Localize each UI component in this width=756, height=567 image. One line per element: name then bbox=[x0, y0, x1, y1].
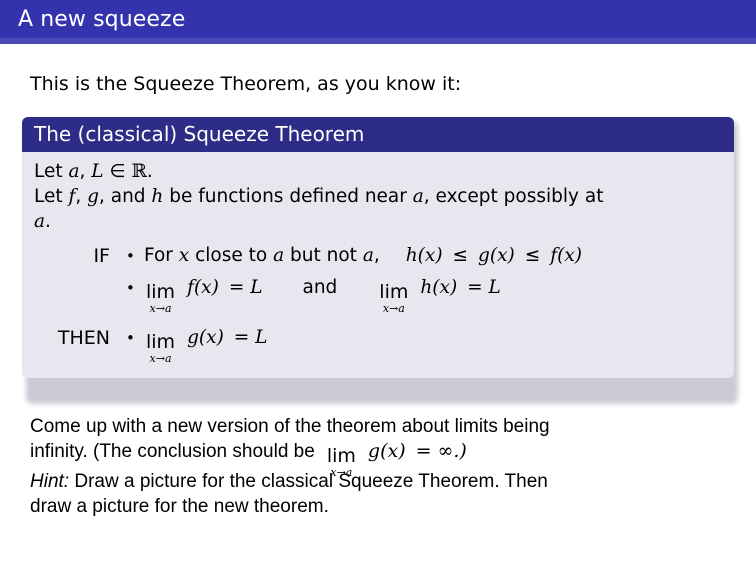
formula-paren-close-2: ) bbox=[508, 245, 515, 266]
formula-x-1: x bbox=[425, 245, 435, 266]
task-fn-g: g bbox=[368, 440, 380, 462]
formula-paren-close-3: ) bbox=[575, 245, 582, 266]
if-bullet-2: • limx→af(x)= Landlimx→ah(x)= L bbox=[126, 275, 722, 310]
setup-line-1: Let a, L ∈ ℝ. bbox=[34, 159, 722, 184]
setup-line1-end: . bbox=[147, 161, 153, 182]
limit-label-2: lim bbox=[379, 283, 408, 302]
limit-eq-3: = L bbox=[234, 327, 268, 348]
limit-operator-3: limx→a bbox=[146, 333, 175, 365]
formula-le-2: ≤ bbox=[525, 245, 541, 266]
bullet-icon: • bbox=[126, 325, 144, 351]
limit-eq-1: = L bbox=[229, 277, 263, 298]
task-line-1: Come up with a new version of the theore… bbox=[30, 414, 736, 439]
limit-arg-1: (x) bbox=[194, 277, 219, 298]
setup-line2-c1: , bbox=[75, 186, 87, 207]
limit-fn-f: f bbox=[187, 277, 194, 298]
if1-post: , bbox=[374, 245, 380, 266]
if-label: IF bbox=[34, 243, 126, 269]
var-a-3: a bbox=[34, 211, 45, 232]
hint-label: Hint: bbox=[30, 471, 69, 492]
setup-line-2: Let f, g, and h be functions defined nea… bbox=[34, 184, 722, 209]
if-row: IF • For x close to a but not a,h(x)≤g(x… bbox=[34, 243, 722, 316]
formula-g: g bbox=[478, 245, 490, 266]
block-content: Let a, L ∈ ℝ. Let f, g, and h be functio… bbox=[22, 152, 734, 378]
if-bullet-1-text: For x close to a but not a,h(x)≤g(x)≤f(x… bbox=[144, 243, 722, 269]
then-items: • limx→ag(x)= L bbox=[126, 325, 722, 366]
hint-line-2: draw a picture for the new theorem. bbox=[30, 494, 736, 519]
hint-line1-text: Draw a picture for the classical Squeeze… bbox=[69, 471, 548, 492]
formula-x-3: x bbox=[564, 245, 574, 266]
hint-line-1: Hint: Draw a picture for the classical S… bbox=[30, 469, 736, 494]
bullet-icon: • bbox=[126, 243, 144, 269]
symbol-real-numbers: ℝ bbox=[131, 161, 146, 182]
then-bullet-1: • limx→ag(x)= L bbox=[126, 325, 722, 360]
setup-line3-end: . bbox=[45, 211, 51, 232]
limit-subscript-3: x→a bbox=[150, 353, 172, 365]
if1-mid: close to bbox=[189, 245, 273, 266]
if1-mid2: but not bbox=[284, 245, 363, 266]
task-paragraph: Come up with a new version of the theore… bbox=[30, 414, 736, 474]
limit-arg-2: (x) bbox=[432, 277, 457, 298]
block-title: The (classical) Squeeze Theorem bbox=[22, 117, 734, 152]
limit-subscript-1: x→a bbox=[150, 303, 172, 315]
setup-line-3: a. bbox=[34, 209, 722, 234]
limit-subscript-2: x→a bbox=[383, 303, 405, 315]
limit-fn-g: g bbox=[187, 327, 199, 348]
conjunction-and: and bbox=[302, 277, 337, 298]
var-h: h bbox=[151, 186, 163, 207]
var-g: g bbox=[87, 186, 99, 207]
setup-line2-pre: Let bbox=[34, 186, 69, 207]
setup-line2-post: be functions defined near bbox=[163, 186, 412, 207]
var-x: x bbox=[179, 245, 189, 266]
then-bullet-1-text: limx→ag(x)= L bbox=[144, 325, 722, 360]
var-a-4: a bbox=[273, 245, 284, 266]
var-a: a bbox=[69, 161, 80, 182]
limit-label-3: lim bbox=[146, 333, 175, 352]
var-a-5: a bbox=[363, 245, 374, 266]
hint-paragraph: Hint: Draw a picture for the classical S… bbox=[30, 469, 736, 519]
setup-line1-in: ∈ bbox=[104, 161, 132, 182]
if1-pre: For bbox=[144, 245, 179, 266]
limit-arg-3: (x) bbox=[199, 327, 224, 348]
if-items: • For x close to a but not a,h(x)≤g(x)≤f… bbox=[126, 243, 722, 316]
limit-operator-2: limx→a bbox=[379, 283, 408, 315]
var-L: L bbox=[91, 161, 103, 182]
setup-line2-tail: , except possibly at bbox=[424, 186, 604, 207]
formula-h: h bbox=[406, 245, 418, 266]
then-row: THEN • limx→ag(x)= L bbox=[34, 325, 722, 366]
limit-fn-h: h bbox=[420, 277, 432, 298]
intro-text: This is the Squeeze Theorem, as you know… bbox=[30, 72, 461, 96]
formula-le-1: ≤ bbox=[453, 245, 469, 266]
page-title: A new squeeze bbox=[18, 6, 185, 34]
formula-paren-close-1: ) bbox=[435, 245, 442, 266]
var-a-2: a bbox=[413, 186, 424, 207]
setup-line1-comma: , bbox=[80, 161, 92, 182]
setup-line1-pre: Let bbox=[34, 161, 69, 182]
limit-label-4: lim bbox=[327, 447, 356, 466]
task-line2-pre: infinity. (The conclusion should be bbox=[30, 441, 315, 462]
bullet-icon: • bbox=[126, 275, 144, 301]
formula-paren-open-1: ( bbox=[418, 245, 425, 266]
limit-eq-2: = L bbox=[467, 277, 501, 298]
limit-operator-1: limx→a bbox=[146, 283, 175, 315]
then-label: THEN bbox=[34, 325, 126, 351]
if-bullet-2-text: limx→af(x)= Landlimx→ah(x)= L bbox=[144, 275, 722, 310]
task-eq-infinity: = ∞.) bbox=[416, 440, 467, 462]
theorem-block: The (classical) Squeeze Theorem Let a, L… bbox=[22, 117, 734, 378]
setup-line2-c2: , and bbox=[99, 186, 151, 207]
formula-x-2: x bbox=[497, 245, 507, 266]
limit-label-1: lim bbox=[146, 283, 175, 302]
if-bullet-1: • For x close to a but not a,h(x)≤g(x)≤f… bbox=[126, 243, 722, 269]
slide-body: This is the Squeeze Theorem, as you know… bbox=[0, 44, 756, 567]
task-arg: (x) bbox=[380, 440, 406, 462]
